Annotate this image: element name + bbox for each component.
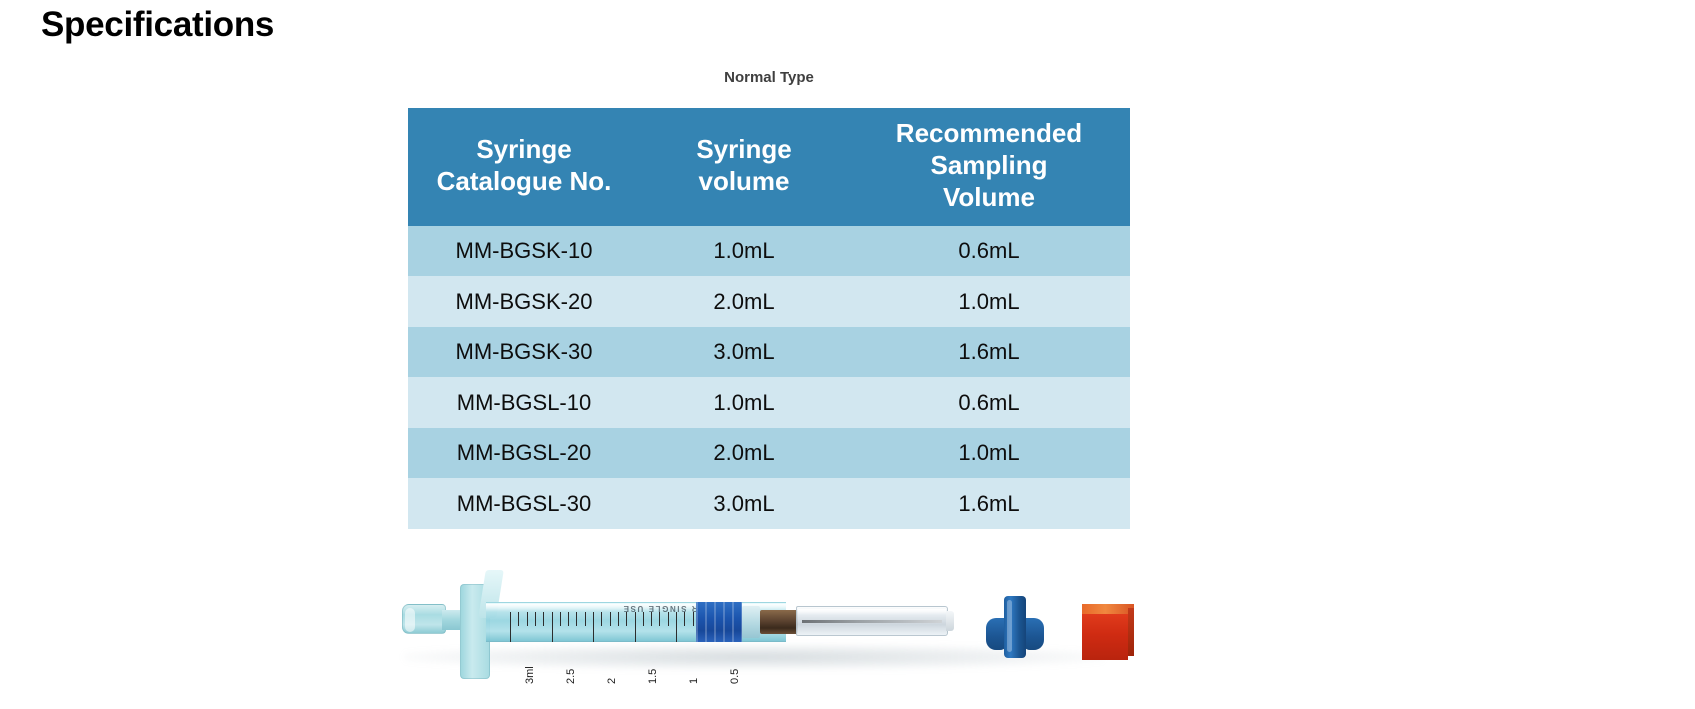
cell-volume: 3.0mL	[640, 478, 848, 529]
column-header-sampling-line1: Recommended	[852, 118, 1126, 150]
cell-catalogue: MM-BGSL-30	[408, 478, 640, 529]
cell-volume: 1.0mL	[640, 377, 848, 428]
red-rubber-cube-front	[1082, 614, 1128, 660]
cell-sampling: 0.6mL	[848, 377, 1130, 428]
graduation-number: 1	[688, 678, 700, 684]
cell-catalogue: MM-BGSL-20	[408, 428, 640, 479]
cell-catalogue: MM-BGSL-10	[408, 377, 640, 428]
column-header-catalogue: Syringe Catalogue No.	[408, 108, 640, 226]
blue-accessory-cap-highlight	[1007, 600, 1012, 652]
cell-catalogue: MM-BGSK-20	[408, 276, 640, 327]
luer-collar	[742, 606, 760, 638]
cell-catalogue: MM-BGSK-30	[408, 327, 640, 378]
table-body: MM-BGSK-10 1.0mL 0.6mL MM-BGSK-20 2.0mL …	[408, 226, 1130, 529]
specification-table: Syringe Catalogue No. Syringe volume Rec…	[408, 108, 1130, 529]
needle-cap-tip	[946, 611, 954, 631]
cell-sampling: 1.0mL	[848, 428, 1130, 479]
column-header-catalogue-line1: Syringe	[412, 134, 636, 166]
cell-volume: 2.0mL	[640, 276, 848, 327]
cell-catalogue: MM-BGSK-10	[408, 226, 640, 277]
needle-hub	[760, 610, 798, 634]
graduation-number: 1.5	[647, 669, 659, 684]
cell-sampling: 1.0mL	[848, 276, 1130, 327]
table-caption: Normal Type	[408, 69, 1130, 86]
table-header: Syringe Catalogue No. Syringe volume Rec…	[408, 108, 1130, 226]
table-row: MM-BGSK-10 1.0mL 0.6mL	[408, 226, 1130, 277]
graduation-number: 3ml	[524, 666, 536, 684]
column-header-sampling: Recommended Sampling Volume	[848, 108, 1130, 226]
table-row: MM-BGSK-20 2.0mL 1.0mL	[408, 276, 1130, 327]
cell-sampling: 0.6mL	[848, 226, 1130, 277]
graduation-number: 2.5	[565, 669, 577, 684]
column-header-volume-line2: volume	[644, 166, 844, 198]
table-row: MM-BGSL-30 3.0mL 1.6mL	[408, 478, 1130, 529]
table-row: MM-BGSL-10 1.0mL 0.6mL	[408, 377, 1130, 428]
cell-volume: 3.0mL	[640, 327, 848, 378]
column-header-catalogue-line2: Catalogue No.	[412, 166, 636, 198]
table-row: MM-BGSL-20 2.0mL 1.0mL	[408, 428, 1130, 479]
cell-sampling: 1.6mL	[848, 478, 1130, 529]
table-row: MM-BGSK-30 3.0mL 1.6mL	[408, 327, 1130, 378]
graduation-number: 0.5	[729, 669, 741, 684]
page-title: Specifications	[41, 5, 274, 45]
cell-sampling: 1.6mL	[848, 327, 1130, 378]
column-header-volume: Syringe volume	[640, 108, 848, 226]
red-rubber-cube-top	[1082, 604, 1134, 614]
specifications-page: Specifications Normal Type Syringe Catal…	[0, 0, 1695, 709]
product-photo: FOR SINGLE USE 3ml2.521.510.5	[390, 548, 1150, 709]
graduation-number: 2	[606, 678, 618, 684]
cell-volume: 1.0mL	[640, 226, 848, 277]
cell-volume: 2.0mL	[640, 428, 848, 479]
table-header-row: Syringe Catalogue No. Syringe volume Rec…	[408, 108, 1130, 226]
needle-cap-highlight	[798, 609, 946, 615]
column-header-sampling-line2: Sampling	[852, 150, 1126, 182]
needle-shaft	[802, 620, 942, 623]
column-header-sampling-line3: Volume	[852, 182, 1126, 214]
blue-plunger-stopper-ribs	[696, 602, 742, 642]
red-rubber-cube-side	[1128, 608, 1134, 656]
column-header-volume-line1: Syringe	[644, 134, 844, 166]
